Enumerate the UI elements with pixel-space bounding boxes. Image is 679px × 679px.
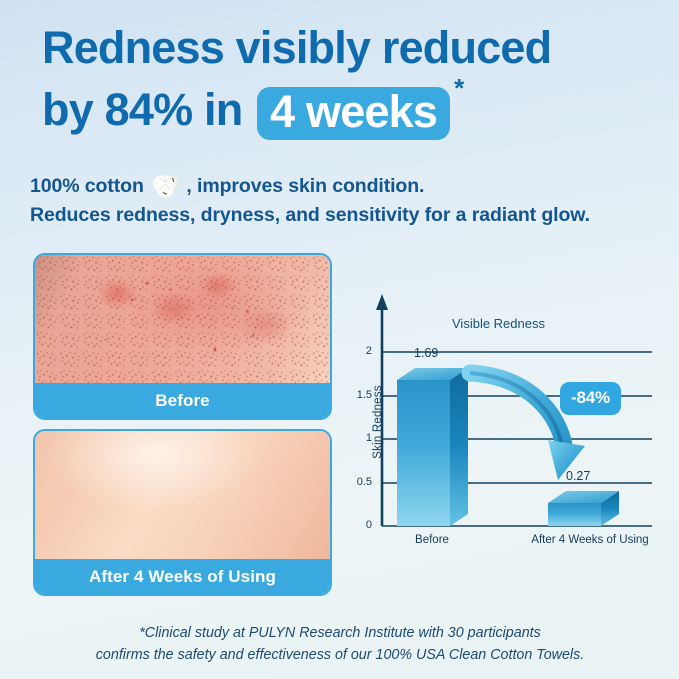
y-tick-label-1: 1 [350, 432, 372, 444]
footnote-line-2: confirms the safety and effectiveness of… [40, 644, 640, 666]
weeks-pill-badge: 4 weeks [257, 87, 450, 140]
bar-before [397, 368, 468, 526]
reduction-badge: -84% [560, 382, 621, 415]
cotton-boll-icon [150, 173, 180, 200]
subtitle-line-1: 100% cotton , improves skin condition. [30, 172, 660, 201]
after-photo-card: After 4 Weeks of Using [33, 429, 332, 596]
after-photo-label: After 4 Weeks of Using [35, 559, 330, 594]
y-tick-label-0_5: 0.5 [350, 476, 372, 488]
headline-line-2: by 84% in 4 weeks* [42, 74, 652, 138]
subtitle-line-1-post: , improves skin condition. [186, 175, 424, 197]
subtitle: 100% cotton , improves skin condition. R [30, 172, 660, 230]
asterisk-marker: * [454, 73, 463, 103]
after-skin-photo [35, 431, 330, 559]
before-photo-label: Before [35, 383, 330, 418]
x-category-label-before: Before [387, 534, 477, 546]
subtitle-line-1-pre: 100% cotton [30, 175, 144, 197]
bar-after [548, 491, 619, 526]
x-category-label-after: After 4 Weeks of Using [520, 534, 660, 546]
skin-redness-spots [35, 255, 330, 383]
headline-line-2-prefix: by 84% in [42, 84, 242, 135]
value-label-before: 1.69 [414, 346, 438, 360]
before-skin-photo [35, 255, 330, 383]
y-tick-label-1_5: 1.5 [350, 389, 372, 401]
headline: Redness visibly reduced by 84% in 4 week… [42, 22, 652, 138]
promo-graphic: Redness visibly reduced by 84% in 4 week… [0, 0, 679, 679]
footnote: *Clinical study at PULYN Research Instit… [40, 622, 640, 666]
subtitle-line-2: Reduces redness, dryness, and sensitivit… [30, 201, 660, 230]
value-label-after: 0.27 [566, 469, 590, 483]
smooth-skin-texture [35, 431, 330, 559]
headline-line-1: Redness visibly reduced [42, 22, 551, 73]
chart-y-axis-title: Skin Redness [372, 362, 384, 482]
y-tick-label-0: 0 [350, 519, 372, 531]
before-photo-card: Before [33, 253, 332, 420]
chart-title: Visible Redness [452, 316, 545, 331]
redness-bar-chart: Visible Redness Skin Redness 0 0.5 1 1.5… [352, 288, 660, 580]
y-tick-label-2: 2 [350, 345, 372, 357]
footnote-line-1: *Clinical study at PULYN Research Instit… [40, 622, 640, 644]
